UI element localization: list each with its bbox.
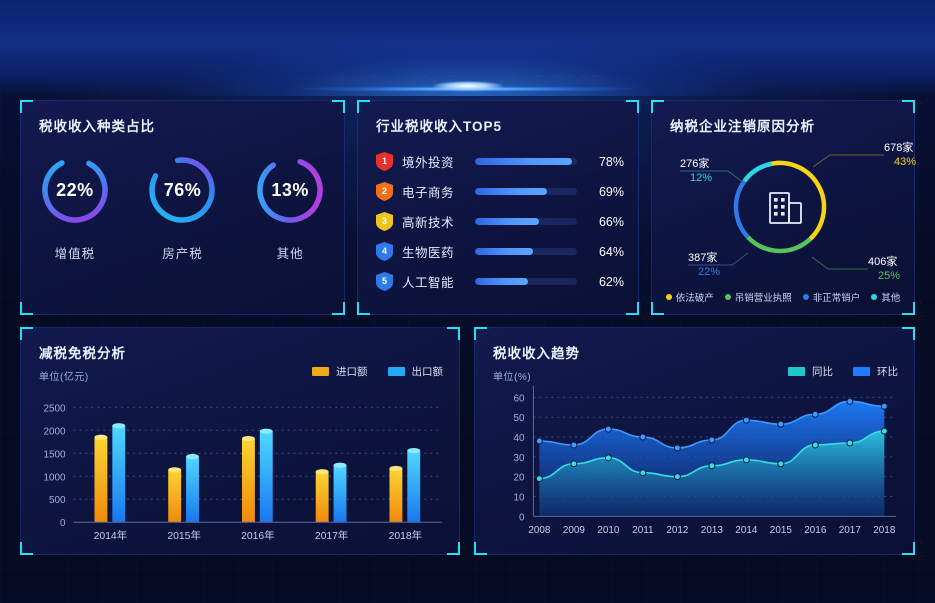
rank-bar-track [475, 248, 577, 255]
data-point[interactable] [743, 417, 749, 423]
data-point[interactable] [571, 442, 577, 448]
rank-badge-icon: 3 [376, 212, 393, 231]
x-tick-label: 2015 [770, 525, 793, 536]
data-point[interactable] [536, 438, 542, 444]
trend-y-axis-labels: 0102030405060 [513, 393, 525, 523]
panel-title-tax-type: 税收收入种类占比 [39, 115, 155, 135]
donut-label-count: 276家 [680, 156, 709, 170]
rank-number: 1 [376, 152, 393, 171]
donut-segment[interactable] [748, 237, 810, 251]
x-tick-label: 2012 [666, 525, 689, 536]
legend-dot [871, 294, 877, 300]
corner-bracket-tr [626, 100, 639, 113]
legend-label: 其他 [881, 290, 900, 304]
corner-bracket-tl [20, 100, 33, 113]
rank-badge-icon: 2 [376, 182, 393, 201]
y-tick-label: 1500 [43, 449, 66, 460]
y-tick-label: 2500 [43, 403, 66, 414]
x-tick-label: 2014年 [94, 529, 128, 542]
panel-industry-top5: 行业税收收入TOP5 1境外投资78%2电子商务69%3高新技术66%4生物医药… [357, 100, 639, 315]
data-point[interactable] [881, 403, 887, 409]
y-tick-label: 2000 [43, 426, 66, 437]
bar-cap [112, 423, 125, 428]
donut-segment[interactable] [736, 181, 748, 237]
rank-percent: 78% [586, 155, 624, 169]
data-point[interactable] [674, 445, 680, 451]
donut-label-percent: 12% [690, 172, 712, 184]
rank-number: 5 [376, 272, 393, 291]
bar-series [94, 423, 420, 522]
gauge-item[interactable]: 22% 增值税 [29, 153, 121, 262]
data-point[interactable] [847, 398, 853, 404]
bar-column[interactable] [389, 468, 402, 522]
data-point[interactable] [674, 474, 680, 480]
ranking-list: 1境外投资78%2电子商务69%3高新技术66%4生物医药64%5人工智能62% [376, 147, 624, 297]
gauge-value-2: 13% [253, 153, 327, 227]
y-tick-label: 1000 [43, 472, 66, 483]
rank-industry-name: 境外投资 [402, 152, 466, 171]
gauge-ring-0: 22% [38, 153, 112, 227]
x-tick-label: 2009 [563, 525, 586, 536]
gauge-label-2: 其他 [244, 243, 336, 262]
legend-label: 依法破产 [676, 290, 714, 304]
ranking-row[interactable]: 5人工智能62% [376, 267, 624, 296]
gauge-label-0: 增值税 [29, 243, 121, 262]
x-tick-label: 2013 [701, 525, 724, 536]
rank-badge-icon: 1 [376, 152, 393, 171]
donut-chart-svg: 678家43%406家25%387家22%276家12% [652, 135, 916, 295]
data-point[interactable] [605, 426, 611, 432]
data-point[interactable] [536, 476, 542, 482]
y-tick-label: 20 [513, 473, 525, 484]
ranking-row[interactable]: 3高新技术66% [376, 207, 624, 236]
rank-number: 3 [376, 212, 393, 231]
gauge-ring-1: 76% [145, 153, 219, 227]
data-point[interactable] [640, 470, 646, 476]
legend-label: 非正常销户 [813, 290, 861, 304]
rank-industry-name: 高新技术 [402, 212, 466, 231]
rank-bar-fill [475, 188, 547, 195]
data-point[interactable] [881, 428, 887, 434]
x-tick-label: 2016年 [241, 529, 275, 542]
rank-bar-track [475, 158, 577, 165]
bar-cap [168, 467, 181, 472]
bar-x-axis-labels: 2014年2015年2016年2017年2018年 [94, 529, 423, 542]
gauge-group: 22% 增值税 76% 房产税 [21, 153, 344, 262]
panel-tax-trend: 税收收入趋势 单位(%) 同比 环比 [474, 327, 915, 555]
y-tick-label: 30 [513, 453, 525, 464]
bar-column[interactable] [112, 426, 125, 523]
data-point[interactable] [571, 461, 577, 467]
legend-dot [803, 294, 809, 300]
corner-bracket-tr [902, 100, 915, 113]
x-tick-label: 2010 [597, 525, 620, 536]
corner-bracket-bl [20, 302, 33, 315]
donut-label-percent: 25% [878, 270, 900, 282]
rank-number: 4 [376, 242, 393, 261]
x-tick-label: 2018 [873, 525, 896, 536]
bar-cap [186, 454, 199, 459]
x-tick-label: 2016 [804, 525, 827, 536]
gauge-value-0: 22% [38, 153, 112, 227]
donut-labels: 678家43%406家25%387家22%276家12% [680, 140, 916, 282]
panel-tax-type-share: 税收收入种类占比 22% 增值税 [20, 100, 345, 315]
corner-bracket-tr [332, 100, 345, 113]
panel-tax-reduction: 减税免税分析 单位(亿元) 进口额 出口额 050010001500200025… [20, 327, 460, 555]
header-banner [0, 0, 935, 96]
rank-percent: 69% [586, 185, 624, 199]
rank-industry-name: 电子商务 [402, 182, 466, 201]
bar-column[interactable] [407, 451, 420, 523]
bar-y-axis-labels: 05001000150020002500 [43, 403, 66, 529]
gauge-ring-2: 13% [253, 153, 327, 227]
rank-bar-track [475, 188, 577, 195]
dashboard-page: 政务大数据平台可视化 税收收入种类占比 22% [0, 0, 935, 603]
rank-bar-fill [475, 158, 572, 165]
rank-number: 2 [376, 182, 393, 201]
y-tick-label: 0 [60, 518, 66, 529]
bar-cap [242, 436, 255, 441]
panel-cancel-reason: 纳税企业注销原因分析 [651, 100, 915, 315]
rank-percent: 66% [586, 215, 624, 229]
gauge-label-1: 房产税 [136, 243, 228, 262]
donut-label-count: 406家 [868, 254, 897, 268]
bar-cap [316, 469, 329, 474]
bar-chart-svg: 05001000150020002500 2014年2015年2016年2017… [21, 328, 459, 554]
bar-column[interactable] [168, 470, 181, 522]
trend-chart-svg: 0102030405060 20082009201020112012201320… [475, 328, 914, 554]
trend-series [536, 398, 887, 516]
ranking-row[interactable]: 2电子商务69% [376, 177, 624, 206]
x-tick-label: 2011 [632, 525, 654, 536]
bar-column[interactable] [186, 457, 199, 523]
rank-bar-track [475, 278, 577, 285]
donut-label-percent: 43% [894, 156, 916, 168]
bar-column[interactable] [316, 472, 329, 523]
legend-label: 吊销营业执照 [735, 290, 792, 304]
corner-bracket-br [626, 302, 639, 315]
donut-chart-area: 678家43%406家25%387家22%276家12% [652, 135, 914, 280]
donut-label-percent: 22% [698, 266, 720, 278]
panel-title-top5: 行业税收收入TOP5 [376, 115, 502, 135]
data-point[interactable] [778, 461, 784, 467]
x-tick-label: 2017年 [315, 529, 349, 542]
donut-ring [736, 163, 824, 251]
data-point[interactable] [709, 463, 715, 469]
corner-bracket-tl [357, 100, 370, 113]
donut-legend: 依法破产吊销营业执照非正常销户其他 [652, 290, 914, 304]
donut-label-count: 678家 [884, 140, 913, 154]
donut-legend-item[interactable]: 非正常销户 [803, 290, 861, 304]
legend-dot [666, 294, 672, 300]
rank-bar-fill [475, 248, 533, 255]
bar-cap [260, 429, 273, 434]
corner-bracket-bl [357, 302, 370, 315]
data-point[interactable] [640, 434, 646, 440]
header-glow-core [433, 81, 503, 91]
bar-column[interactable] [334, 465, 347, 522]
donut-segment[interactable] [744, 164, 771, 181]
data-point[interactable] [605, 455, 611, 461]
rank-bar-fill [475, 278, 528, 285]
building-icon [770, 193, 801, 223]
y-tick-label: 10 [513, 492, 525, 503]
y-tick-label: 500 [49, 495, 66, 506]
bar-cap [407, 448, 420, 453]
corner-bracket-tl [651, 100, 664, 113]
x-tick-label: 2008 [528, 525, 551, 536]
gauge-item[interactable]: 13% 其他 [244, 153, 336, 262]
data-point[interactable] [812, 442, 818, 448]
gauge-item[interactable]: 76% 房产税 [136, 153, 228, 262]
y-tick-label: 40 [513, 433, 525, 444]
data-point[interactable] [709, 437, 715, 443]
data-point[interactable] [812, 411, 818, 417]
rank-percent: 62% [586, 275, 624, 289]
data-point[interactable] [778, 421, 784, 427]
donut-legend-item[interactable]: 其他 [871, 290, 900, 304]
rank-bar-track [475, 218, 577, 225]
bar-cap [94, 435, 107, 440]
x-tick-label: 2017 [839, 525, 862, 536]
bar-column[interactable] [94, 437, 107, 522]
data-point[interactable] [743, 457, 749, 463]
rank-bar-fill [475, 218, 539, 225]
legend-dot [725, 294, 731, 300]
rank-percent: 64% [586, 245, 624, 259]
bar-column[interactable] [242, 439, 255, 523]
rank-industry-name: 生物医药 [402, 242, 466, 261]
data-point[interactable] [847, 440, 853, 446]
bar-column[interactable] [260, 431, 273, 522]
x-tick-label: 2018年 [389, 529, 423, 542]
panel-title-cancel: 纳税企业注销原因分析 [670, 115, 815, 135]
rank-badge-icon: 4 [376, 242, 393, 261]
ranking-row[interactable]: 1境外投资78% [376, 147, 624, 176]
y-tick-label: 0 [519, 512, 525, 523]
bar-cap [334, 463, 347, 468]
y-tick-label: 50 [513, 413, 525, 424]
donut-label-count: 387家 [688, 250, 717, 264]
corner-bracket-br [332, 302, 345, 315]
bar-grid [73, 407, 442, 499]
donut-legend-item[interactable]: 依法破产 [666, 290, 714, 304]
gauge-value-1: 76% [145, 153, 219, 227]
trend-x-axis-labels: 2008200920102011201220132014201520162017… [528, 525, 895, 536]
ranking-row[interactable]: 4生物医药64% [376, 237, 624, 266]
rank-badge-icon: 5 [376, 272, 393, 291]
x-tick-label: 2014 [735, 525, 758, 536]
donut-legend-item[interactable]: 吊销营业执照 [725, 290, 792, 304]
x-tick-label: 2015年 [167, 529, 201, 542]
y-tick-label: 60 [513, 393, 525, 404]
bar-cap [389, 466, 402, 471]
rank-industry-name: 人工智能 [402, 272, 466, 291]
